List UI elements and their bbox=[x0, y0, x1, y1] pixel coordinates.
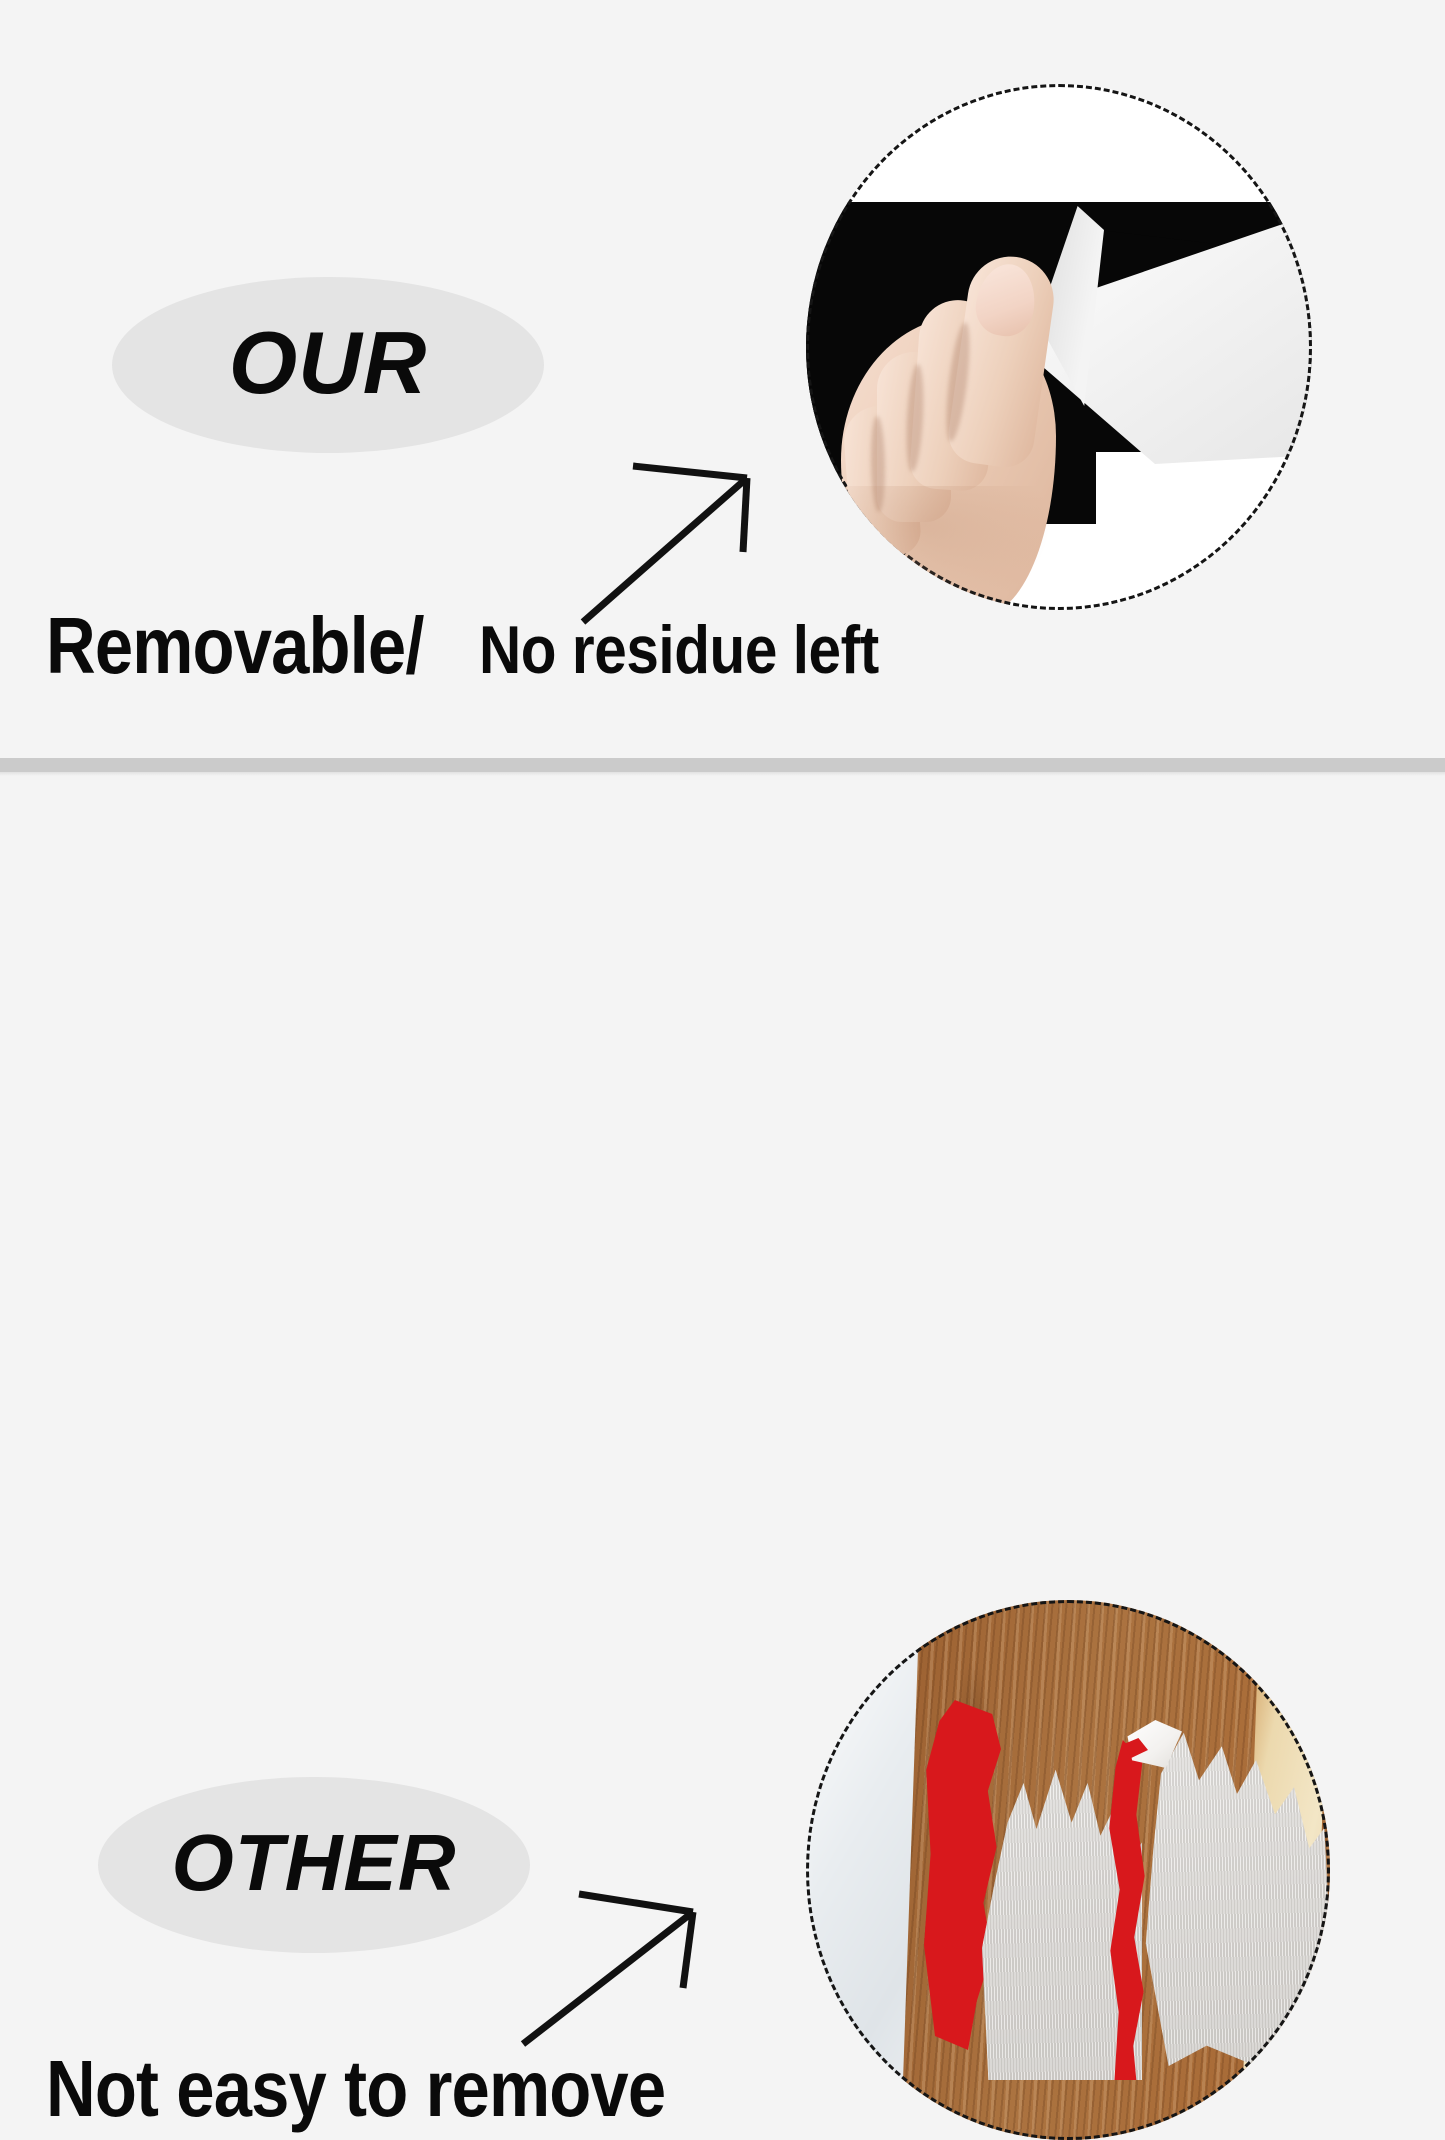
photo-other bbox=[806, 1600, 1330, 2140]
caption-other-primary: Not easy to remove bbox=[46, 2049, 665, 2129]
caption-our: Removable/No residue left bbox=[46, 606, 944, 686]
photo-our-scene bbox=[806, 84, 1312, 610]
photo-other-scene bbox=[806, 1600, 1330, 2140]
badge-other-label: OTHER bbox=[172, 1823, 457, 1903]
section-other: OTHER Not easy to remove bbox=[0, 772, 1445, 1445]
arrow-up-right-icon-other bbox=[515, 1884, 715, 2054]
hand-graphic bbox=[841, 256, 1091, 610]
caption-other: Not easy to remove bbox=[46, 2049, 766, 2129]
arrow-up-right-icon-our bbox=[575, 452, 765, 632]
hand-shadow bbox=[841, 486, 1051, 610]
badge-our-label: OUR bbox=[229, 319, 428, 407]
comparison-infographic: OUR Removable/No residue left bbox=[0, 0, 1445, 1445]
section-divider bbox=[0, 758, 1445, 772]
badge-our: OUR bbox=[112, 277, 544, 453]
section-our: OUR Removable/No residue left bbox=[0, 0, 1445, 758]
badge-other: OTHER bbox=[98, 1777, 530, 1953]
caption-our-primary: Removable/ bbox=[46, 606, 424, 686]
photo-our bbox=[806, 84, 1312, 610]
